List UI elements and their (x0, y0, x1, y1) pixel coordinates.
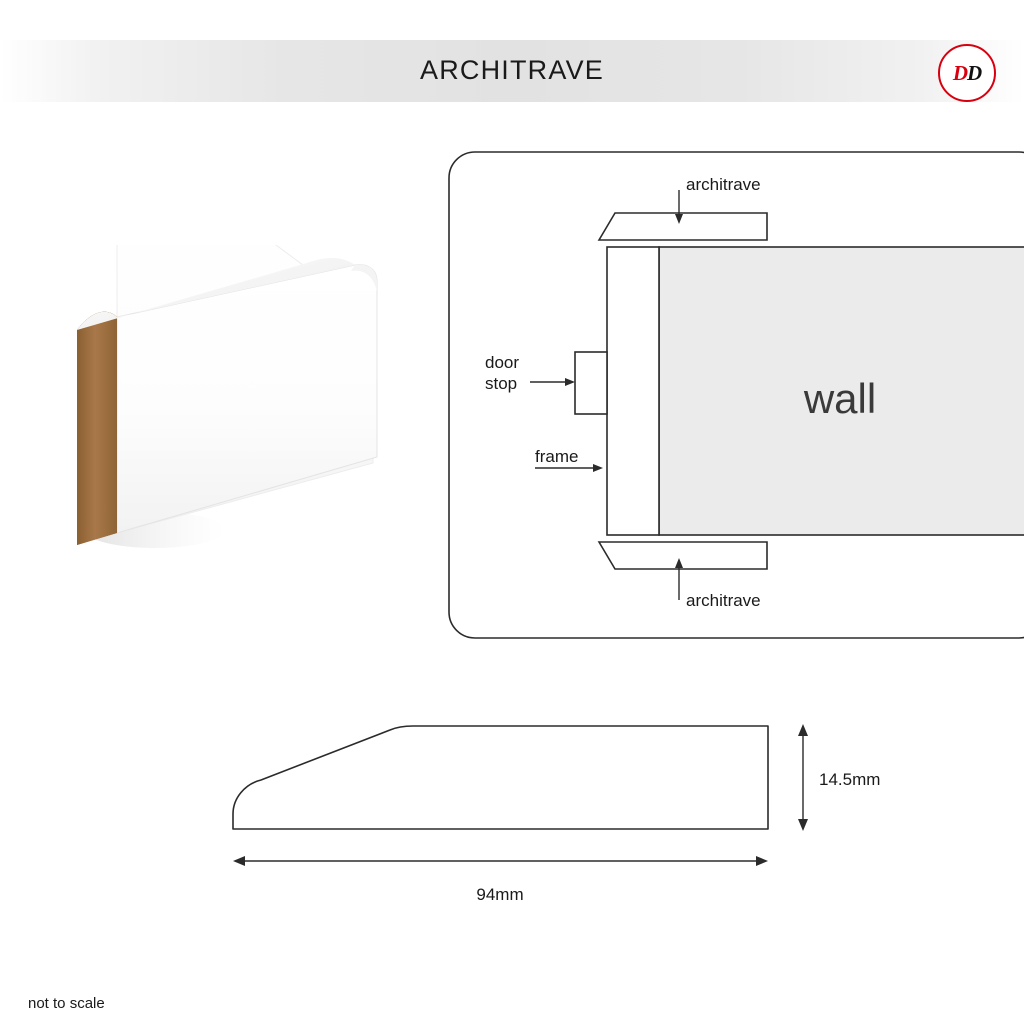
width-dimension-label: 94mm (476, 885, 523, 904)
architrave-bottom-block (599, 542, 767, 569)
product-3d-render (55, 245, 385, 585)
door-stop (575, 352, 607, 414)
architrave-top-label: architrave (686, 175, 761, 194)
width-dimension (233, 856, 768, 866)
architrave-top-block (599, 213, 767, 240)
frame-member (607, 247, 659, 535)
door-stop-label-line2: stop (485, 374, 517, 393)
height-dimension (798, 724, 808, 831)
page-title: ARCHITRAVE (0, 55, 1024, 86)
logo-text: DD (953, 61, 981, 86)
architrave-bottom-label: architrave (686, 591, 761, 610)
logo-letter-right: D (967, 61, 981, 85)
door-stop-label-line1: door (485, 353, 519, 372)
plan-diagram: wall architrave architrave door stop (447, 150, 1024, 640)
height-dimension-label: 14.5mm (819, 770, 880, 789)
profile-cross-section (233, 726, 768, 829)
brand-logo: DD (938, 44, 996, 102)
wall-label: wall (803, 375, 876, 422)
logo-letter-left: D (953, 61, 967, 85)
frame-label: frame (535, 447, 578, 466)
profile-dimension-diagram: 14.5mm 94mm (215, 700, 915, 930)
not-to-scale-note: not to scale (28, 995, 105, 1012)
